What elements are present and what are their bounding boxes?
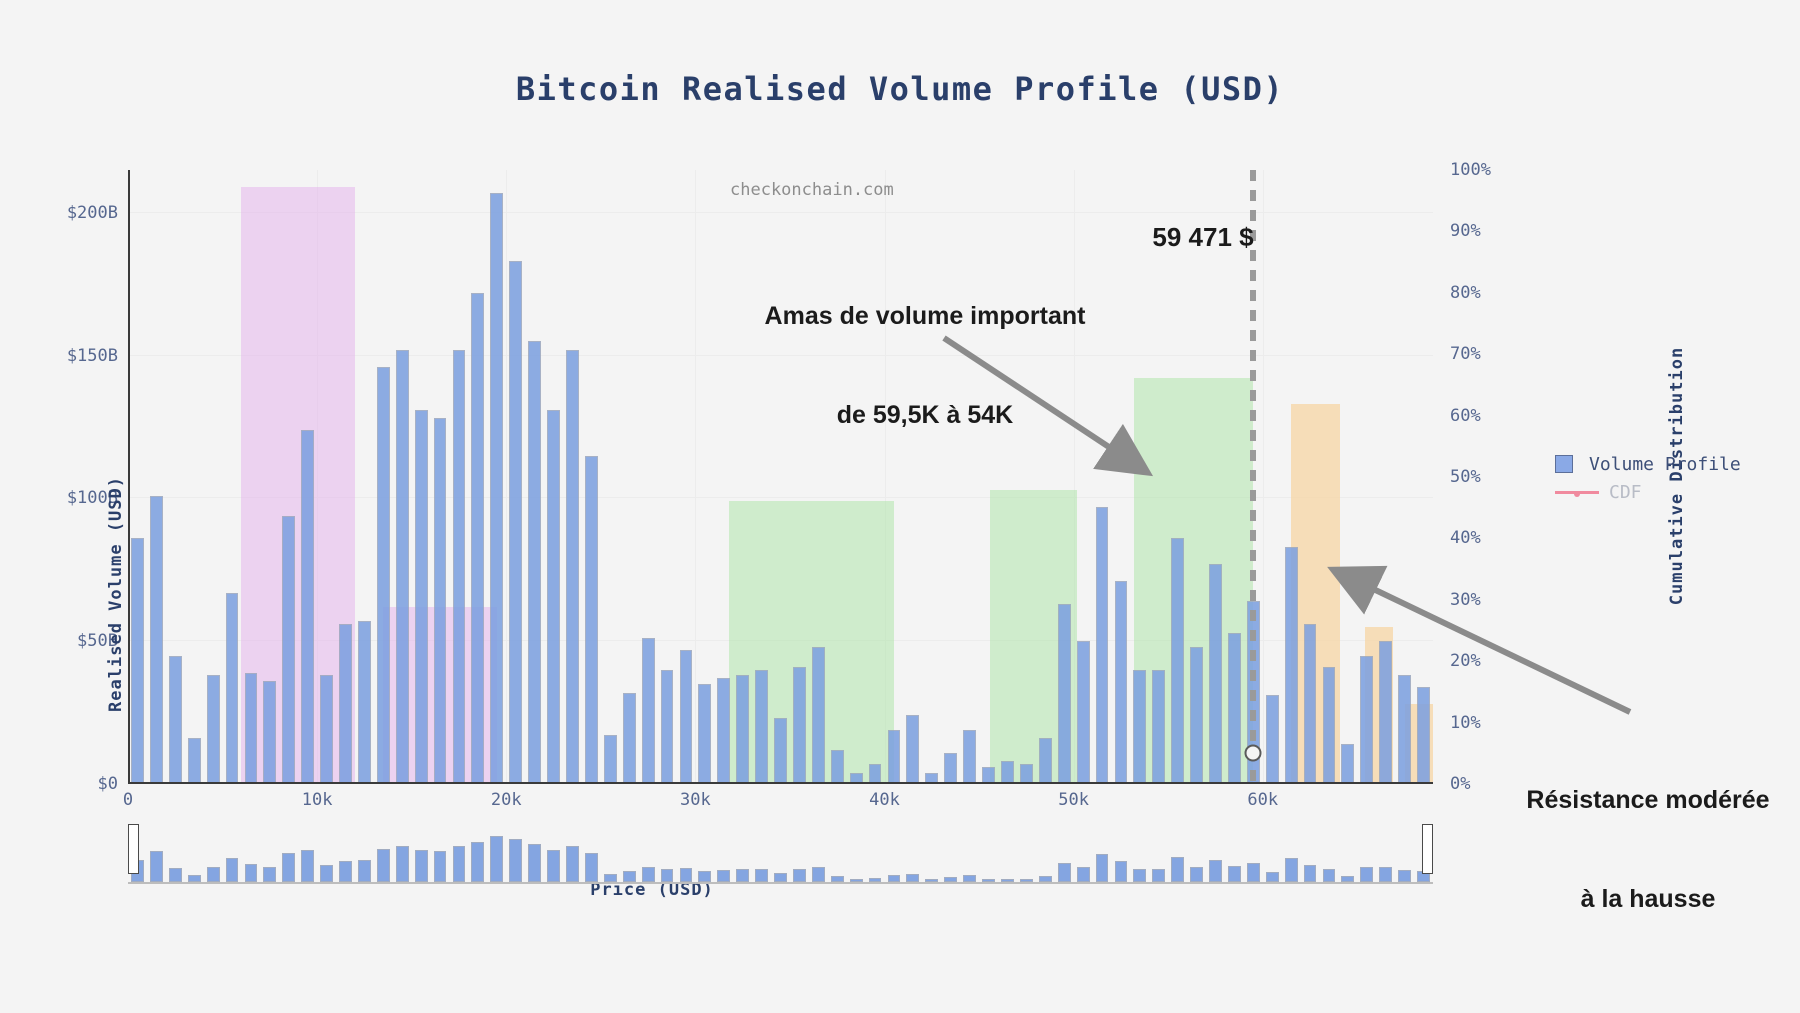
range-slider-bar <box>1360 867 1373 882</box>
range-slider-bar <box>604 874 617 882</box>
annotation-resistance-line-1: Résistance modérée <box>1526 784 1769 817</box>
range-slider-bar <box>415 850 428 882</box>
range-slider-bar <box>1133 869 1146 882</box>
range-slider-bar <box>245 864 258 882</box>
range-slider-bar <box>1247 863 1260 882</box>
range-slider-bar <box>812 867 825 882</box>
range-slider-bar <box>471 842 484 882</box>
range-slider-bar <box>358 860 371 882</box>
annotation-resistance: Résistance modérée à la hausse <box>1526 718 1769 982</box>
legend-swatch-icon <box>1555 455 1573 473</box>
range-slider-bar <box>755 869 768 882</box>
range-slider-bar <box>1152 869 1165 882</box>
range-slider-bar <box>263 867 276 882</box>
range-slider-bar <box>1209 860 1222 882</box>
range-slider-bar <box>547 850 560 882</box>
range-slider-bar <box>528 844 541 882</box>
chart-canvas: Bitcoin Realised Volume Profile (USD) $0… <box>0 0 1800 1013</box>
arrow-resistance <box>1365 585 1630 712</box>
range-slider-bar <box>509 839 522 882</box>
range-slider-bar <box>188 875 201 882</box>
range-slider-bar <box>282 853 295 882</box>
range-slider-bar <box>623 871 636 882</box>
range-slider-handle-right[interactable] <box>1422 824 1433 874</box>
range-slider-bar <box>1323 869 1336 882</box>
range-slider-bar <box>1171 857 1184 882</box>
range-slider-bar <box>453 846 466 882</box>
legend-label-volume-profile: Volume Profile <box>1589 454 1741 475</box>
range-slider-bar <box>320 865 333 882</box>
range-slider-bar <box>169 868 182 882</box>
range-slider-bar <box>1398 870 1411 882</box>
range-slider-bar <box>717 870 730 882</box>
range-slider-bar <box>680 868 693 882</box>
range-slider-bar <box>793 869 806 882</box>
legend-item-volume-profile[interactable]: Volume Profile <box>1555 450 1741 478</box>
range-slider-baseline <box>128 882 1433 884</box>
range-slider-bar <box>339 861 352 882</box>
arrow-cluster <box>944 338 1118 453</box>
range-slider-bar <box>396 846 409 882</box>
range-slider-bar <box>888 875 901 882</box>
range-slider-bar <box>642 867 655 882</box>
range-slider-bar <box>906 874 919 882</box>
range-slider-bar <box>490 836 503 882</box>
range-slider-bar <box>1190 867 1203 882</box>
annotation-resistance-line-2: à la hausse <box>1526 883 1769 916</box>
range-slider-handle-left[interactable] <box>128 824 139 874</box>
range-slider-bar <box>1077 867 1090 882</box>
range-slider-bar <box>434 851 447 882</box>
range-slider-bar <box>963 875 976 882</box>
range-slider-bar <box>207 867 220 882</box>
range-slider[interactable] <box>128 822 1433 884</box>
range-slider-bar <box>301 850 314 882</box>
range-slider-bar <box>377 849 390 882</box>
range-slider-bar <box>698 871 711 882</box>
legend[interactable]: Volume Profile CDF <box>1555 450 1741 506</box>
range-slider-bar <box>1228 866 1241 882</box>
legend-label-cdf: CDF <box>1609 482 1642 503</box>
range-slider-bar <box>1115 861 1128 882</box>
legend-item-cdf[interactable]: CDF <box>1555 478 1741 506</box>
range-slider-bar <box>1266 872 1279 882</box>
range-slider-bar <box>150 851 163 882</box>
range-slider-bar <box>1058 863 1071 882</box>
range-slider-bar <box>1285 858 1298 882</box>
range-slider-bar <box>1304 865 1317 882</box>
range-slider-bar <box>226 858 239 882</box>
range-slider-bar <box>736 869 749 882</box>
range-slider-bar <box>661 869 674 882</box>
legend-line-icon <box>1555 491 1599 494</box>
range-slider-bar <box>774 873 787 882</box>
range-slider-bar <box>1379 867 1392 882</box>
range-slider-bar <box>585 853 598 882</box>
range-slider-bar <box>566 846 579 882</box>
range-slider-bar <box>1096 854 1109 882</box>
